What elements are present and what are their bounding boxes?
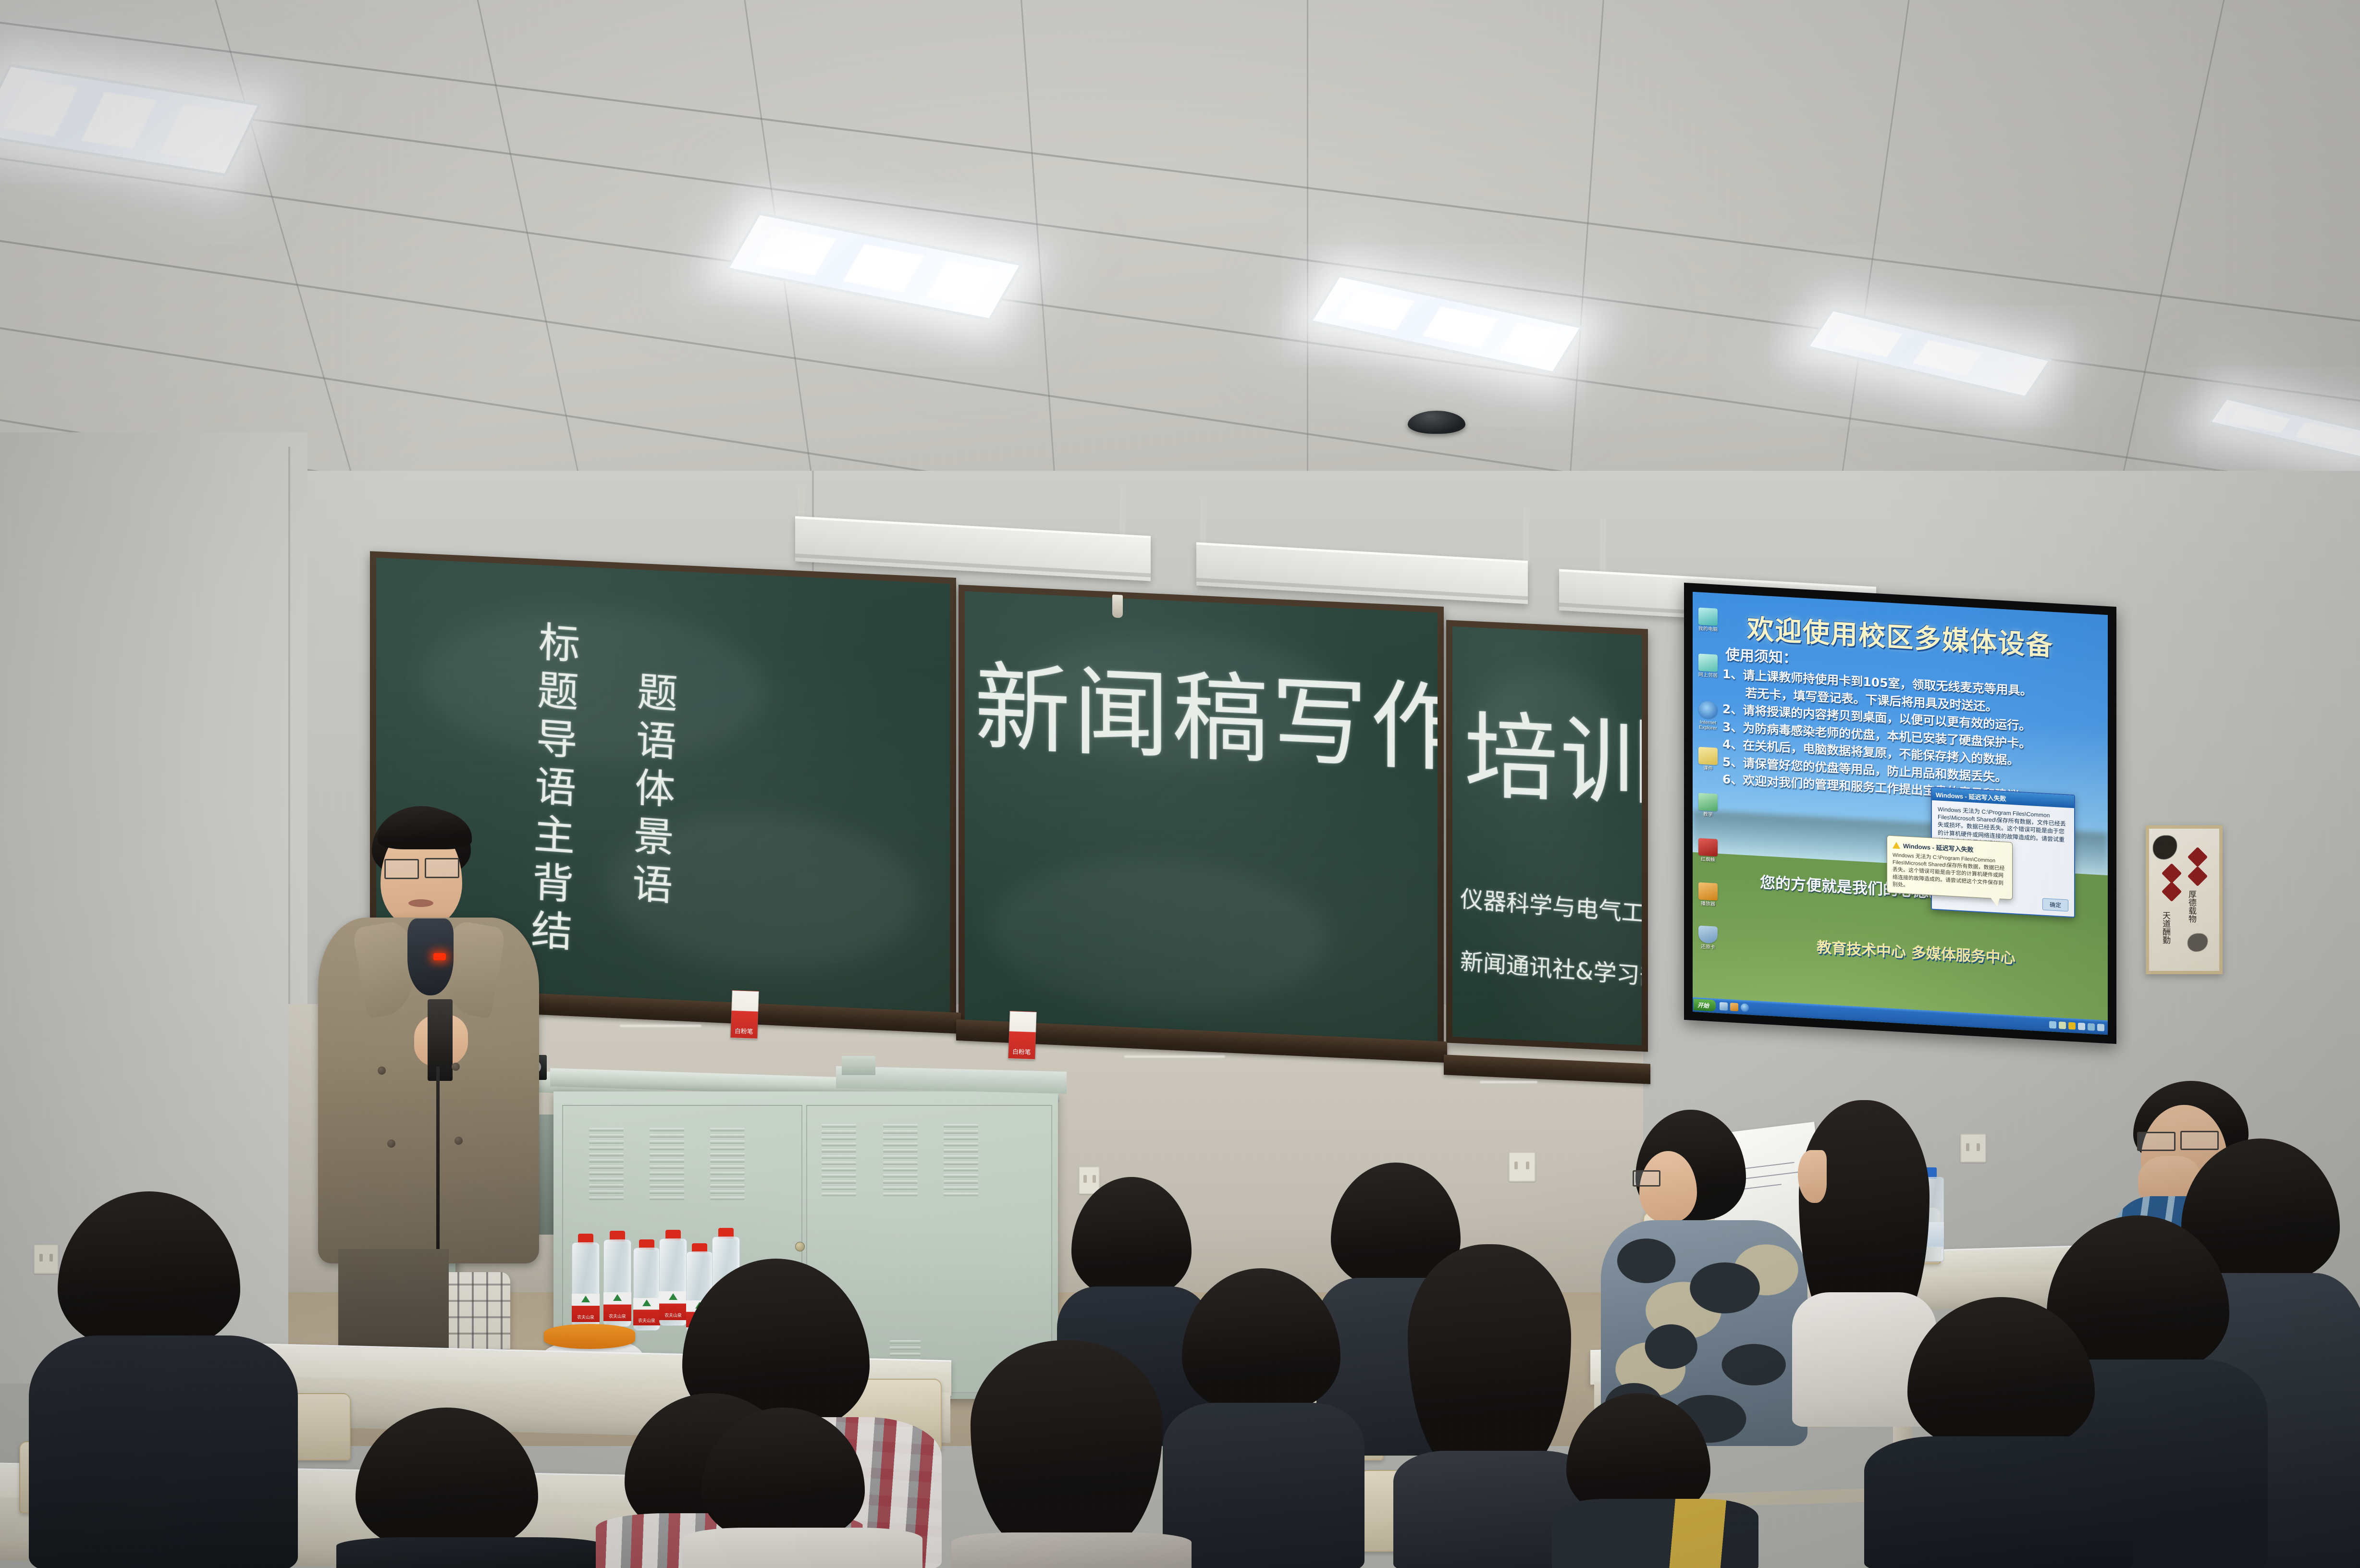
chalk-box[interactable]: 白粉笔 [730, 990, 759, 1039]
desktop-icon-label: 网上邻居 [1696, 673, 1720, 679]
wall-outlet[interactable] [1509, 1152, 1536, 1182]
blackboard-chalk-column-b: 题语体景语 [627, 670, 675, 912]
scroll-paper: 天道酬勤 厚德载物 [2149, 829, 2219, 971]
mountain-logo-icon [581, 1296, 590, 1302]
chalk-box-label: 白粉笔 [735, 1027, 753, 1036]
red-diamond [2188, 847, 2208, 867]
coat-button [378, 1066, 386, 1075]
bullet-num: 4、 [1722, 737, 1743, 752]
student-torso [29, 1335, 298, 1568]
chalk-dust [1480, 1081, 1537, 1083]
dialog-ok-button[interactable]: 确定 [2042, 898, 2068, 912]
presenter-glasses [384, 859, 419, 879]
mountain-logo-icon [642, 1299, 651, 1306]
student-hair [1907, 1297, 2095, 1451]
coat-button [455, 1137, 463, 1145]
bullet-num: 5、 [1722, 755, 1743, 770]
student-torso [1163, 1403, 1364, 1568]
show-desktop-icon[interactable] [1720, 1002, 1728, 1010]
projected-slide: 欢迎使用校区多媒体设备 使用须知： 1、请上课教师持使用卡到105室，领取无线麦… [1693, 592, 2108, 1035]
blackboard-headline-right: 培训 [1464, 709, 1642, 813]
scroll-column-1: 天道酬勤 [2161, 911, 2170, 944]
microphone-cable [436, 1066, 440, 1254]
blackboard-surface-center: 新闻稿写作 [965, 591, 1438, 1047]
warning-icon[interactable] [2068, 1022, 2076, 1029]
desktop-icon-red-spider[interactable]: 红蜘蛛 [1696, 838, 1721, 863]
student-torso [682, 1528, 922, 1568]
internet-explorer-icon [1698, 701, 1718, 719]
media-player-icon[interactable] [1730, 1003, 1738, 1011]
my-computer-icon [1698, 608, 1718, 626]
network-icon[interactable] [2049, 1021, 2056, 1029]
desktop-icon-my-computer[interactable]: 我的电脑 [1696, 607, 1721, 633]
student-left-foreground [336, 1408, 605, 1568]
student-white-shirt [682, 1408, 922, 1568]
shield-icon [1698, 926, 1718, 944]
projection-screen: 欢迎使用校区多媒体设备 使用须知： 1、请上课教师持使用卡到105室，领取无线麦… [1684, 583, 2116, 1044]
blackboard-surface-right: 培训 仪器科学与电气工程学院 新闻通讯社&学习部 [1452, 626, 1642, 1045]
orange-bowl[interactable] [544, 1324, 635, 1349]
student-hair [356, 1408, 538, 1552]
red-diamond [2162, 882, 2182, 902]
student-navy-shirt [1864, 1297, 2133, 1568]
cabinet-vent [883, 1124, 918, 1196]
blackboard-headline-center: 新闻稿写作 [974, 659, 1438, 780]
tray-notification-balloon[interactable]: Windows - 延迟写入失败 Windows 无法为 C:\Program … [1887, 835, 2013, 900]
coat-button [452, 1063, 460, 1071]
desktop-icon-courseware-folder[interactable]: 课件 [1696, 747, 1721, 772]
start-button[interactable]: 开始 [1694, 999, 1716, 1012]
board-clip [1112, 595, 1123, 618]
presenter-glasses [425, 858, 459, 878]
desktop-icon-internet-explorer[interactable]: Internet Explorer [1696, 700, 1721, 732]
microphone-led [433, 953, 446, 960]
balloon-body: Windows 无法为 C:\Program Files\Common File… [1893, 852, 2007, 894]
blackboard-panel-center: 新闻稿写作 [959, 585, 1444, 1053]
student-torso [1552, 1499, 1758, 1568]
folder-icon [1698, 793, 1718, 811]
wall-control-box-face [842, 1056, 875, 1075]
bullet-num: 1、 [1722, 667, 1743, 682]
ink-blot [2188, 933, 2208, 952]
student-front-girl [951, 1340, 1192, 1568]
desktop-icon-label: 红蜘蛛 [1696, 857, 1720, 863]
desktop-icon-label: 我的电脑 [1696, 626, 1720, 633]
cabinet-vent [944, 1124, 978, 1196]
cabinet-vent [650, 1128, 684, 1200]
internet-explorer-icon[interactable] [1741, 1003, 1749, 1012]
scroll-column-2: 厚德载物 [2187, 890, 2196, 923]
student-long-hair [971, 1340, 1163, 1552]
desktop-icon-label: 播放器 [1696, 901, 1720, 907]
volume-icon[interactable] [2078, 1022, 2085, 1030]
chalk-box[interactable]: 白粉笔 [1008, 1011, 1036, 1060]
blackboard-panel-right: 培训 仪器科学与电气工程学院 新闻通讯社&学习部 [1446, 620, 1648, 1052]
desktop-icon-label: 还原卡 [1696, 944, 1720, 951]
wall-calligraphy-scroll: 天道酬勤 厚德载物 [2146, 825, 2223, 974]
media-player-icon [1698, 882, 1718, 901]
red-app-icon [1698, 838, 1718, 857]
student-long-hair [1408, 1244, 1571, 1475]
student-hair [701, 1408, 865, 1542]
desktop-icon-restore-card[interactable]: 还原卡 [1696, 925, 1721, 951]
student-torso [1864, 1436, 2133, 1568]
student-glasses [1633, 1170, 1660, 1187]
balloon-title: Windows - 延迟写入失败 [1903, 841, 1974, 854]
bottle-label: 农夫山泉 [572, 1294, 600, 1322]
ceiling-light-fixture [1806, 308, 2052, 398]
chalk-dust [620, 1025, 701, 1027]
ceiling-dome-camera [1408, 411, 1465, 434]
student-back-row [1163, 1268, 1364, 1568]
ink-blot [2153, 835, 2177, 859]
folder-icon [1698, 747, 1718, 765]
system-tray[interactable] [2049, 1021, 2108, 1031]
red-diamond [2162, 863, 2182, 883]
ceiling-light-fixture [1309, 274, 1584, 374]
cabinet-vent [589, 1128, 624, 1200]
wall-outlet[interactable] [1960, 1134, 1986, 1163]
desktop-icon-label: Internet Explorer [1696, 720, 1720, 731]
ceiling-light-fixture [726, 212, 1023, 321]
clock-icon[interactable] [2097, 1023, 2104, 1031]
ceiling-light-fixture [2208, 397, 2360, 459]
bullet-num: 2、 [1722, 702, 1743, 717]
chalk-dust [1124, 1055, 1225, 1058]
warning-triangle-icon [1893, 842, 1900, 849]
student-hair [1182, 1268, 1340, 1412]
blackboard-credit-line-2: 新闻通讯社&学习部 [1460, 950, 1642, 990]
quick-launch-bar[interactable] [1720, 1002, 1749, 1011]
presenter-shirt-collar [407, 919, 454, 995]
shield-icon[interactable] [2088, 1023, 2095, 1030]
presenter [307, 797, 557, 1369]
desktop-icon-label: 课件 [1696, 766, 1720, 772]
student-yellow-sleeve [1552, 1393, 1758, 1568]
classroom-photo-scene: 标题导语主背结 题语体景语 新闻稿写作 培训 仪器科学与电气工程学院 新闻通讯社… [0, 0, 2360, 1568]
usb-icon[interactable] [2059, 1021, 2066, 1029]
desktop-icon-network[interactable]: 网上邻居 [1696, 653, 1721, 679]
cabinet-lock[interactable] [795, 1242, 805, 1251]
water-bottle[interactable]: 农夫山泉 [603, 1231, 631, 1327]
coat-button [387, 1139, 395, 1148]
cabinet-vent [710, 1128, 745, 1200]
mountain-logo-icon [613, 1294, 622, 1301]
bullet-num: 6、 [1722, 772, 1743, 787]
bullet-num: 3、 [1722, 720, 1743, 735]
bottle-label: 农夫山泉 [603, 1292, 631, 1321]
student-left-foreground [29, 1191, 298, 1568]
student-hair [58, 1191, 240, 1350]
red-diamond [2188, 866, 2208, 886]
cabinet-vent [822, 1124, 856, 1196]
slide-bullet-list: 1、请上课教师持使用卡到105室，领取无线麦克等用具。 若无卡，填写登记表。下课… [1722, 666, 2101, 810]
chalk-box-label: 白粉笔 [1012, 1047, 1031, 1056]
desktop-icon-teaching-folder[interactable]: 教学 [1696, 793, 1721, 818]
student-torso [336, 1537, 605, 1568]
blackboard-credit-line-1: 仪器科学与电气工程学院 [1460, 888, 1642, 931]
desktop-icon-label: 教学 [1696, 812, 1720, 818]
water-bottle[interactable]: 农夫山泉 [572, 1234, 600, 1328]
ceiling-light-fixture [0, 64, 261, 176]
suspended-ceiling [0, 0, 2360, 519]
presenter-mouth [408, 899, 433, 907]
slide-subtitle: 使用须知： [1725, 643, 1797, 668]
handheld-microphone[interactable] [428, 999, 453, 1081]
student-torso [951, 1532, 1192, 1568]
network-neighborhood-icon [1698, 654, 1718, 672]
desktop-icon-media-player[interactable]: 播放器 [1696, 882, 1721, 907]
